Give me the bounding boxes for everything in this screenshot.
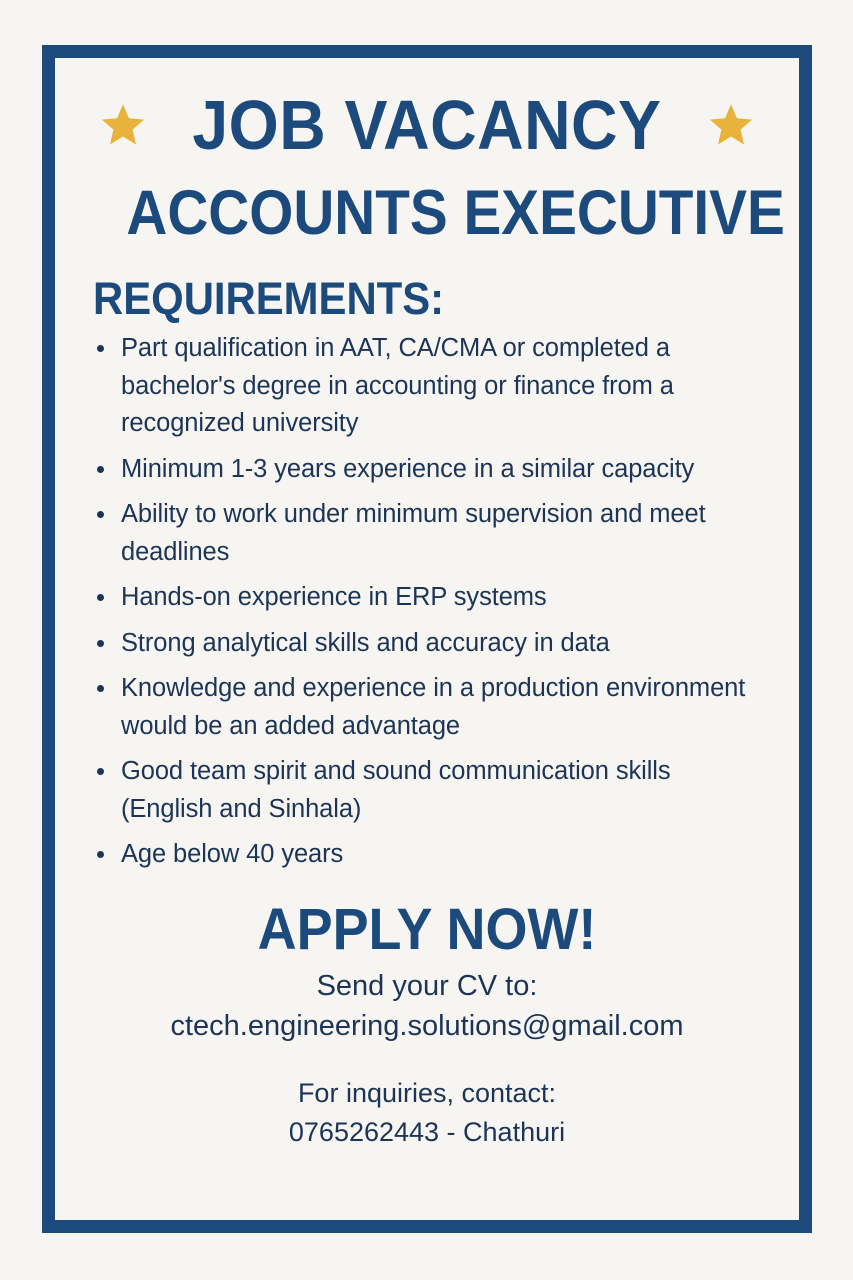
requirements-heading: REQUIREMENTS: bbox=[93, 275, 714, 322]
bullet-icon bbox=[97, 768, 104, 775]
bullet-icon bbox=[97, 511, 104, 518]
list-item: Part qualification in AAT, CA/CMA or com… bbox=[93, 330, 761, 442]
list-item: Good team spirit and sound communication… bbox=[93, 753, 761, 828]
list-item: Knowledge and experience in a production… bbox=[93, 670, 761, 745]
list-item: Hands-on experience in ERP systems bbox=[93, 579, 761, 616]
list-item-text: Hands-on experience in ERP systems bbox=[121, 583, 547, 611]
list-item: Strong analytical skills and accuracy in… bbox=[93, 625, 761, 662]
star-icon bbox=[708, 102, 754, 148]
list-item: Ability to work under minimum supervisio… bbox=[93, 496, 761, 571]
list-item-text: Minimum 1-3 years experience in a simila… bbox=[121, 455, 694, 483]
star-icon bbox=[100, 102, 146, 148]
job-vacancy-poster: JOB VACANCY ACCOUNTS EXECUTIVE REQUIREME… bbox=[0, 0, 853, 1280]
list-item-text: Good team spirit and sound communication… bbox=[121, 757, 670, 822]
contact-phone[interactable]: 0765262443 - Chathuri bbox=[93, 1113, 761, 1151]
application-email[interactable]: ctech.engineering.solutions@gmail.com bbox=[93, 1006, 761, 1046]
list-item-text: Ability to work under minimum supervisio… bbox=[121, 500, 706, 565]
inquiries-block: For inquiries, contact: 0765262443 - Cha… bbox=[93, 1074, 761, 1151]
page-title: JOB VACANCY bbox=[192, 90, 661, 160]
list-item-text: Knowledge and experience in a production… bbox=[121, 674, 745, 739]
poster-content: JOB VACANCY ACCOUNTS EXECUTIVE REQUIREME… bbox=[55, 58, 799, 1220]
bullet-icon bbox=[97, 594, 104, 601]
apply-now-heading: APPLY NOW! bbox=[116, 900, 737, 961]
requirements-list: Part qualification in AAT, CA/CMA or com… bbox=[93, 330, 761, 873]
bullet-icon bbox=[97, 685, 104, 692]
job-position-title: ACCOUNTS EXECUTIVE bbox=[126, 182, 727, 245]
list-item-text: Age below 40 years bbox=[121, 840, 343, 868]
bullet-icon bbox=[97, 851, 104, 858]
list-item-text: Strong analytical skills and accuracy in… bbox=[121, 629, 610, 657]
inquiries-label: For inquiries, contact: bbox=[93, 1074, 761, 1112]
list-item: Age below 40 years bbox=[93, 836, 761, 873]
list-item: Minimum 1-3 years experience in a simila… bbox=[93, 451, 761, 488]
bullet-icon bbox=[97, 345, 104, 352]
send-cv-label: Send your CV to: bbox=[93, 966, 761, 1006]
list-item-text: Part qualification in AAT, CA/CMA or com… bbox=[121, 334, 674, 437]
bullet-icon bbox=[97, 466, 104, 473]
bullet-icon bbox=[97, 640, 104, 647]
title-row: JOB VACANCY bbox=[93, 90, 761, 160]
